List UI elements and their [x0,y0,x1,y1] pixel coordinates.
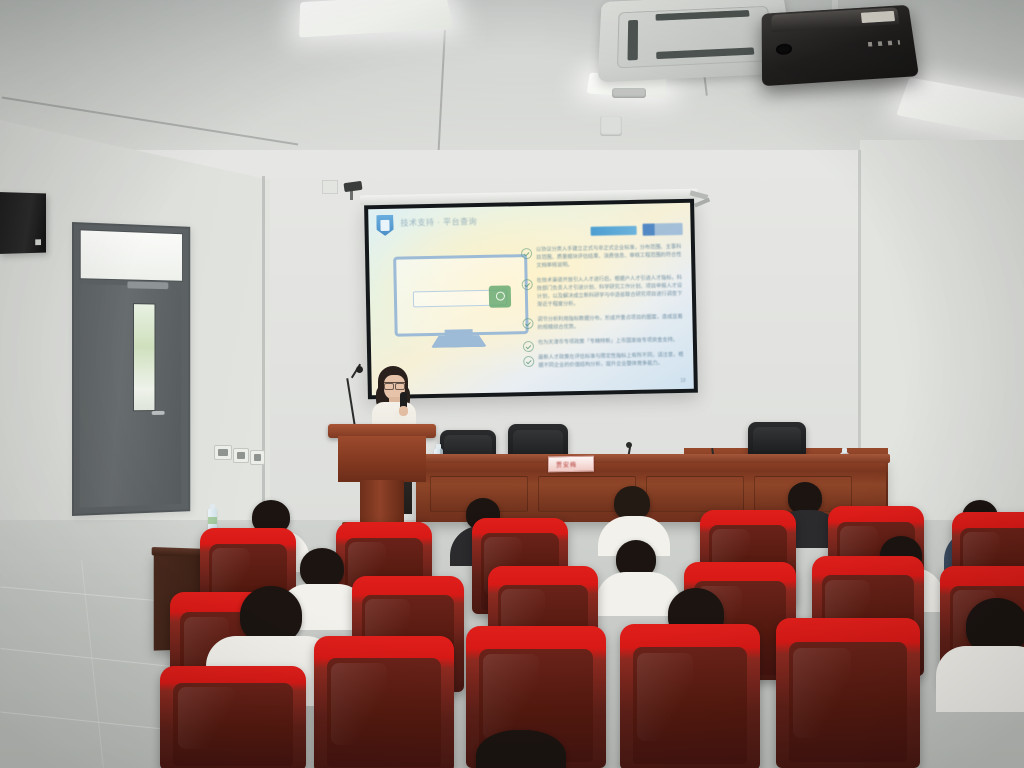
wall-speaker [0,192,46,254]
bullet-text: 在技术渠道开放引入人才进行后，根据户人才引进人才指标，科技部门负责人才引进计划、… [537,274,685,309]
power-outlet-plate[interactable] [250,450,265,465]
switch-rocker[interactable] [237,452,245,459]
attendee [614,486,650,520]
switch-rocker[interactable] [218,449,228,456]
conference-room-photo: 技术支持 · 平台查询 以协议分类入手建立正式与非正式企业标准，分布范围、主事科… [0,0,1024,768]
door-vision-panel [133,303,155,411]
projector-label [861,11,895,23]
smoke-detector [612,88,646,98]
exit-door[interactable] [72,222,190,516]
bullet-text: 也为天津市专项政策「专精特新」上市国家级专项资金支持。 [538,336,685,347]
microphone-head [356,366,363,373]
speaker-indicator [35,239,41,245]
list-item: 以协议分类入手建立正式与非正式企业标准，分布范围、主事科目范围、质量模块评估结果… [521,243,683,270]
camera-bracket [350,190,353,200]
seat-highlight [331,663,387,745]
seat-highlight [793,648,851,738]
table-panel [646,476,744,512]
door-transom-window [80,229,183,281]
lectern-column [360,480,404,524]
glasses-icon [384,382,405,388]
door-closer [127,281,168,289]
lectern-body [338,436,426,482]
wall-mount-plate [322,180,338,194]
list-item: 在技术渠道开放引入人才进行后，根据户人才引进人才指标，科技部门负责人才引进计划、… [522,274,685,309]
ceiling-speaker [600,116,622,136]
microphone-head [626,442,632,448]
list-item: 也为天津市专项政策「专精特新」上市国家级专项资金支持。 [523,336,685,347]
bullet-text: 调节分析利用指标数据分布，形成开重点项目的图案，造成显着的规模综合优势。 [537,313,684,332]
outlet-socket [254,454,261,461]
auditorium-seat[interactable] [776,618,920,768]
seat-highlight [178,687,236,749]
monitor-illustration [393,254,523,343]
placard-text: 贾安梅 [556,460,577,469]
partner-logo-icon [591,226,637,236]
list-item: 调节分析利用指标数据分布，形成开重点项目的图案，造成显着的规模综合优势。 [522,313,684,332]
bullet-text: 以协议分类入手建立正式与非正式企业标准，分布范围、主事科目范围、质量模块评估结果… [536,243,683,270]
bullet-text: 最新人才政策在评估标准与限定性指标上有所不同，请注意，根据不同企业的价值结构分析… [538,351,685,370]
door-handle[interactable] [152,411,165,415]
check-circle-icon [521,248,532,259]
check-circle-icon [523,356,534,367]
head-table-top [412,454,890,463]
presenter-hand [399,406,408,416]
door-slab [80,284,181,508]
ceiling-projector [762,5,919,86]
seat-highlight [637,653,693,741]
list-item: 最新人才政策在评估标准与限定性指标上有所不同，请注意，根据不同企业的价值结构分析… [523,351,685,370]
monitor-base [431,335,487,348]
slide-title: 技术支持 · 平台查询 [400,216,477,229]
monitor-screen-graphic [393,254,529,337]
ac-vent [627,20,638,61]
check-circle-icon [522,279,533,290]
organization-logo-icon [643,223,683,236]
attendee-shoulders [936,646,1024,712]
check-circle-icon [523,341,534,352]
light-switch-plate[interactable] [214,445,232,460]
projector-lens [776,43,792,55]
projector-indicator-leds [868,40,900,46]
name-placard: 贾安梅 [548,456,594,473]
auditorium-seat[interactable] [314,636,454,768]
light-switch-plate[interactable] [233,448,249,463]
check-circle-icon [522,318,533,329]
auditorium-seat[interactable] [160,666,306,768]
attendee [300,548,344,588]
auditorium-seat[interactable] [620,624,760,768]
seat-highlight [483,654,539,739]
slide-bullet-list: 以协议分类入手建立正式与非正式企业标准，分布范围、主事科目范围、质量模块评估结果… [521,243,686,377]
slide-page-number: 18 [680,378,686,384]
search-icon-button [489,285,511,307]
